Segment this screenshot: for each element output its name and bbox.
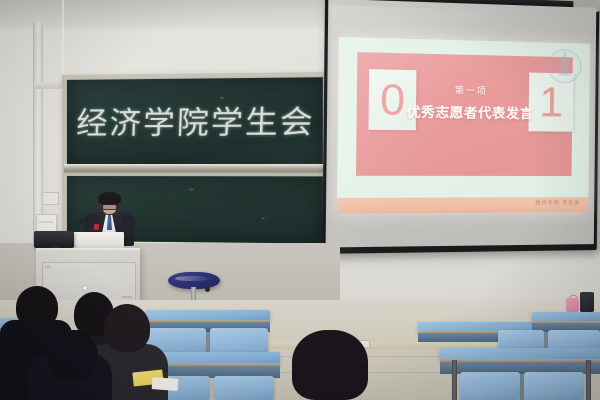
presenter-shoulder-right xyxy=(122,215,135,227)
wall-conduit-shadow xyxy=(0,0,36,4)
lectern-brand-label: ZH xyxy=(45,264,50,269)
seat-divider xyxy=(206,328,210,354)
wall-switch-plate[interactable] xyxy=(42,192,59,205)
slide-footer-text: 经济学院 学生会 xyxy=(535,199,580,206)
stool-hinge xyxy=(205,287,210,292)
white-handout[interactable] xyxy=(152,377,179,391)
slide-number-right: 1 xyxy=(539,81,563,124)
dark-bag[interactable] xyxy=(580,292,594,312)
student-head-4 xyxy=(48,330,98,380)
pink-handbag[interactable] xyxy=(566,298,579,312)
student-head-3 xyxy=(104,304,150,352)
ceiling-band xyxy=(0,0,340,26)
wall-conduit-pipe xyxy=(33,22,43,244)
projection-screen: 0 1 第一项 优秀志愿者代表发言 经 xyxy=(322,0,600,256)
lecture-hall-photo: 经济学院学生会 0 1 第一项 优秀志愿者代表发言 xyxy=(0,0,600,400)
blackboard-chalk-text: 经济学院学生会 xyxy=(71,87,321,151)
blackboard-chalk-rail-middle xyxy=(64,164,326,174)
stool-seat-highlight xyxy=(175,276,209,281)
presentation-slide: 0 1 第一项 优秀志愿者代表发言 经 xyxy=(337,37,590,214)
microphone-head-icon xyxy=(79,219,84,224)
desk-leg xyxy=(452,360,457,400)
chalk-smudge xyxy=(189,188,194,190)
slide-text-block: 第一项 优秀志愿者代表发言 xyxy=(416,70,525,133)
slide-footer-band: 经济学院 学生会 xyxy=(337,197,588,214)
desk-leg xyxy=(586,360,591,400)
presenter-glasses-icon xyxy=(102,204,119,210)
lectern-knob[interactable] xyxy=(83,286,87,290)
slide-subtitle: 第一项 xyxy=(455,83,488,97)
student-head-1 xyxy=(16,286,58,328)
slide-heading: 优秀志愿者代表发言 xyxy=(407,101,534,122)
seatback-center-b[interactable] xyxy=(210,328,268,354)
seatback-center-front-b[interactable] xyxy=(214,376,274,400)
seatback-front-a[interactable] xyxy=(460,372,520,400)
slide-number-left: 0 xyxy=(380,78,406,122)
student-head-5 xyxy=(292,330,368,400)
projection-screen-surface: 0 1 第一项 优秀志愿者代表发言 经 xyxy=(326,0,597,247)
seat-divider xyxy=(520,372,524,400)
university-emblem-watermark-icon xyxy=(545,47,584,86)
chalk-smudge xyxy=(262,217,265,219)
seatback-front-b[interactable] xyxy=(524,372,584,400)
presenter-badge xyxy=(94,224,99,230)
